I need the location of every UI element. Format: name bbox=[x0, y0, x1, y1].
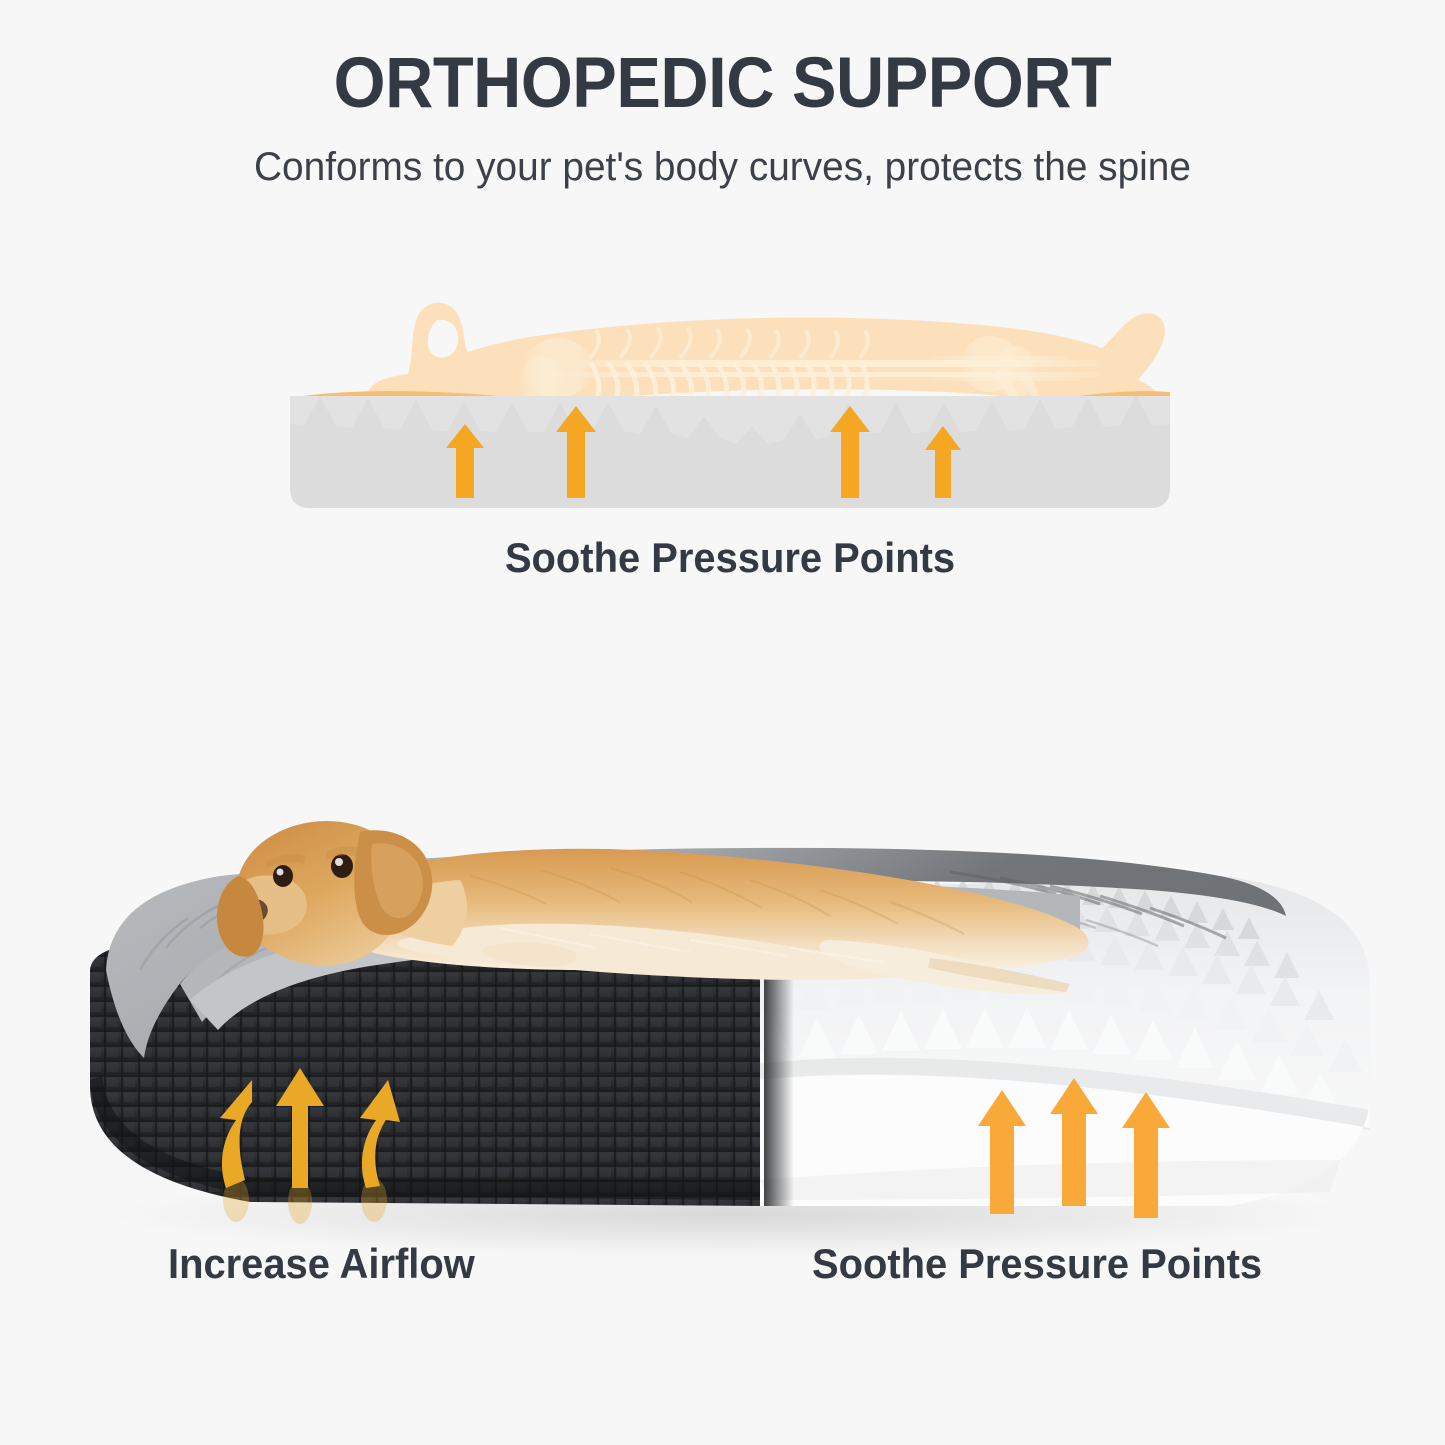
foam-diagram-caption: Soothe Pressure Points bbox=[312, 534, 1148, 582]
bottom-caption-row: Increase Airflow Soothe Pressure Points bbox=[0, 1240, 1445, 1320]
page-subtitle: Conforms to your pet's body curves, prot… bbox=[22, 145, 1424, 190]
foam-gray-teeth bbox=[290, 395, 1170, 512]
page-title: ORTHOPEDIC SUPPORT bbox=[43, 48, 1401, 119]
caption-soothe-pressure-points: Soothe Pressure Points bbox=[812, 1240, 1262, 1288]
product-photo-scene bbox=[70, 640, 1390, 1280]
caption-increase-airflow: Increase Airflow bbox=[168, 1240, 475, 1288]
header-block: ORTHOPEDIC SUPPORT Conforms to your pet'… bbox=[0, 0, 1445, 190]
dog-eye-left bbox=[273, 865, 293, 887]
dog-eye-right bbox=[331, 854, 353, 878]
foam-cross-section-diagram: Soothe Pressure Points bbox=[290, 276, 1170, 596]
dog-bed-graphic bbox=[70, 640, 1390, 1280]
foam-diagram-graphic bbox=[290, 276, 1170, 526]
